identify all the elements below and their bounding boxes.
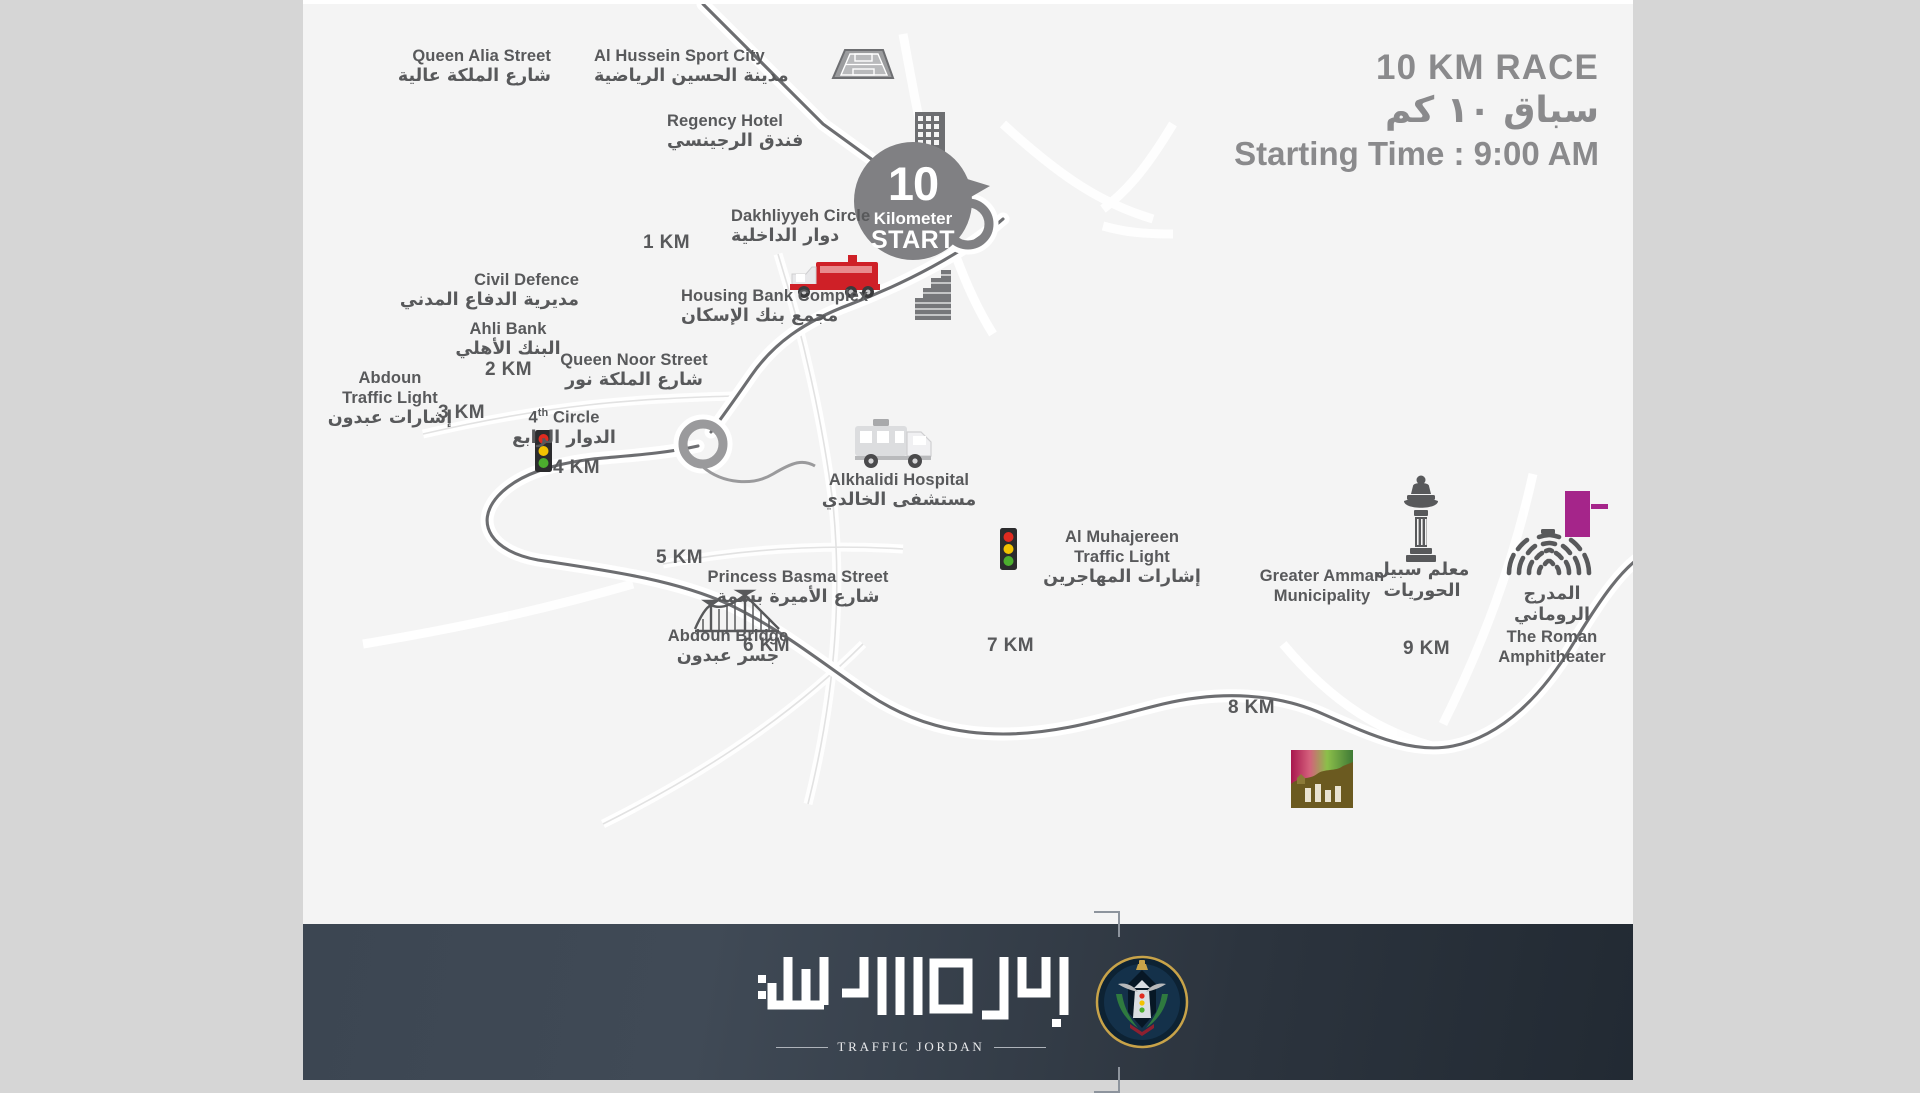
label-civil-defence: Civil Defence مديرية الدفاع المدني	[383, 270, 579, 311]
route-map-canvas: 10 KM RACE سباق ١٠ كم Starting Time : 9:…	[303, 4, 1633, 924]
frame-bracket-bottom-right	[1094, 1067, 1120, 1093]
start-marker: 10 Kilometer START	[854, 142, 986, 274]
km-marker-4: 4 KM	[553, 457, 600, 479]
label-sabeel-al-hurriyat: معلم سبيل الحوريات	[1355, 560, 1489, 603]
traffic-jordan-wordmark: TRAFFIC JORDAN	[746, 949, 1076, 1055]
km-marker-2: 2 KM	[485, 359, 532, 381]
label-queen-noor-street: Queen Noor Street شارع الملكة نور	[541, 350, 727, 391]
ambulance-icon	[855, 419, 931, 468]
race-title-en: 10 KM RACE	[1234, 48, 1599, 88]
label-roman-amphitheater: المدرج الروماني The Roman Amphitheater	[1477, 584, 1627, 667]
km-marker-7: 7 KM	[987, 635, 1034, 657]
km-marker-6: 6 KM	[743, 635, 790, 657]
km-marker-8: 8 KM	[1228, 697, 1275, 719]
start-marker-label: START	[854, 228, 972, 253]
frame-bracket-top-right	[1094, 911, 1120, 937]
label-queen-alia-street: Queen Alia Street شارع الملكة عالية	[351, 46, 551, 87]
km-marker-5: 5 KM	[656, 547, 703, 569]
label-al-muhajereen-traffic-light: Al Muhajereen Traffic Light إشارات المها…	[1027, 527, 1217, 589]
label-alkhalidi-hospital: Alkhalidi Hospital مستشفى الخالدي	[801, 470, 997, 511]
poster-footer: TRAFFIC JORDAN	[303, 924, 1633, 1080]
gam-logo-icon	[1291, 750, 1353, 808]
muhajereen-traffic-light-icon	[1000, 528, 1017, 570]
brand-tagline-row: TRAFFIC JORDAN	[746, 1039, 1076, 1055]
label-princess-basma-street: Princess Basma Street شارع الأميرة بسمة	[678, 567, 918, 608]
label-al-hussein-sport-city: Al Hussein Sport City مدينة الحسين الريا…	[594, 46, 789, 87]
race-map-poster: 10 KM RACE سباق ١٠ كم Starting Time : 9:…	[303, 0, 1633, 1080]
race-title-ar: سباق ١٠ كم	[1234, 90, 1599, 131]
km-marker-9: 9 KM	[1403, 638, 1450, 660]
label-regency-hotel: Regency Hotel فندق الرجينسي	[667, 111, 803, 152]
km-marker-1: 1 KM	[643, 232, 690, 254]
km-marker-3: 3 KM	[438, 402, 485, 424]
label-housing-bank-complex: Housing Bank Complex مجمع بنك الإسكان	[681, 286, 868, 327]
label-abdoun-bridge: Abdoun Bridge جسر عبدون	[633, 626, 823, 667]
public-security-emblem-icon	[1094, 954, 1190, 1050]
kufic-calligraphy-icon	[746, 949, 1076, 1029]
race-start-time: Starting Time : 9:00 AM	[1234, 135, 1599, 173]
label-dakhliyyeh-circle: Dakhliyyeh Circle دوار الداخلية	[731, 206, 870, 247]
label-fourth-circle: 4th Circle الدوار الرابع	[499, 407, 629, 449]
monument-icon	[1404, 476, 1438, 563]
brand-tagline: TRAFFIC JORDAN	[837, 1039, 984, 1055]
finish-line-block	[1565, 491, 1590, 537]
poster-header: 10 KM RACE سباق ١٠ كم Starting Time : 9:…	[1234, 48, 1599, 173]
start-marker-number: 10	[854, 160, 972, 207]
start-marker-unit: Kilometer	[854, 210, 972, 227]
stadium-icon	[833, 50, 893, 78]
